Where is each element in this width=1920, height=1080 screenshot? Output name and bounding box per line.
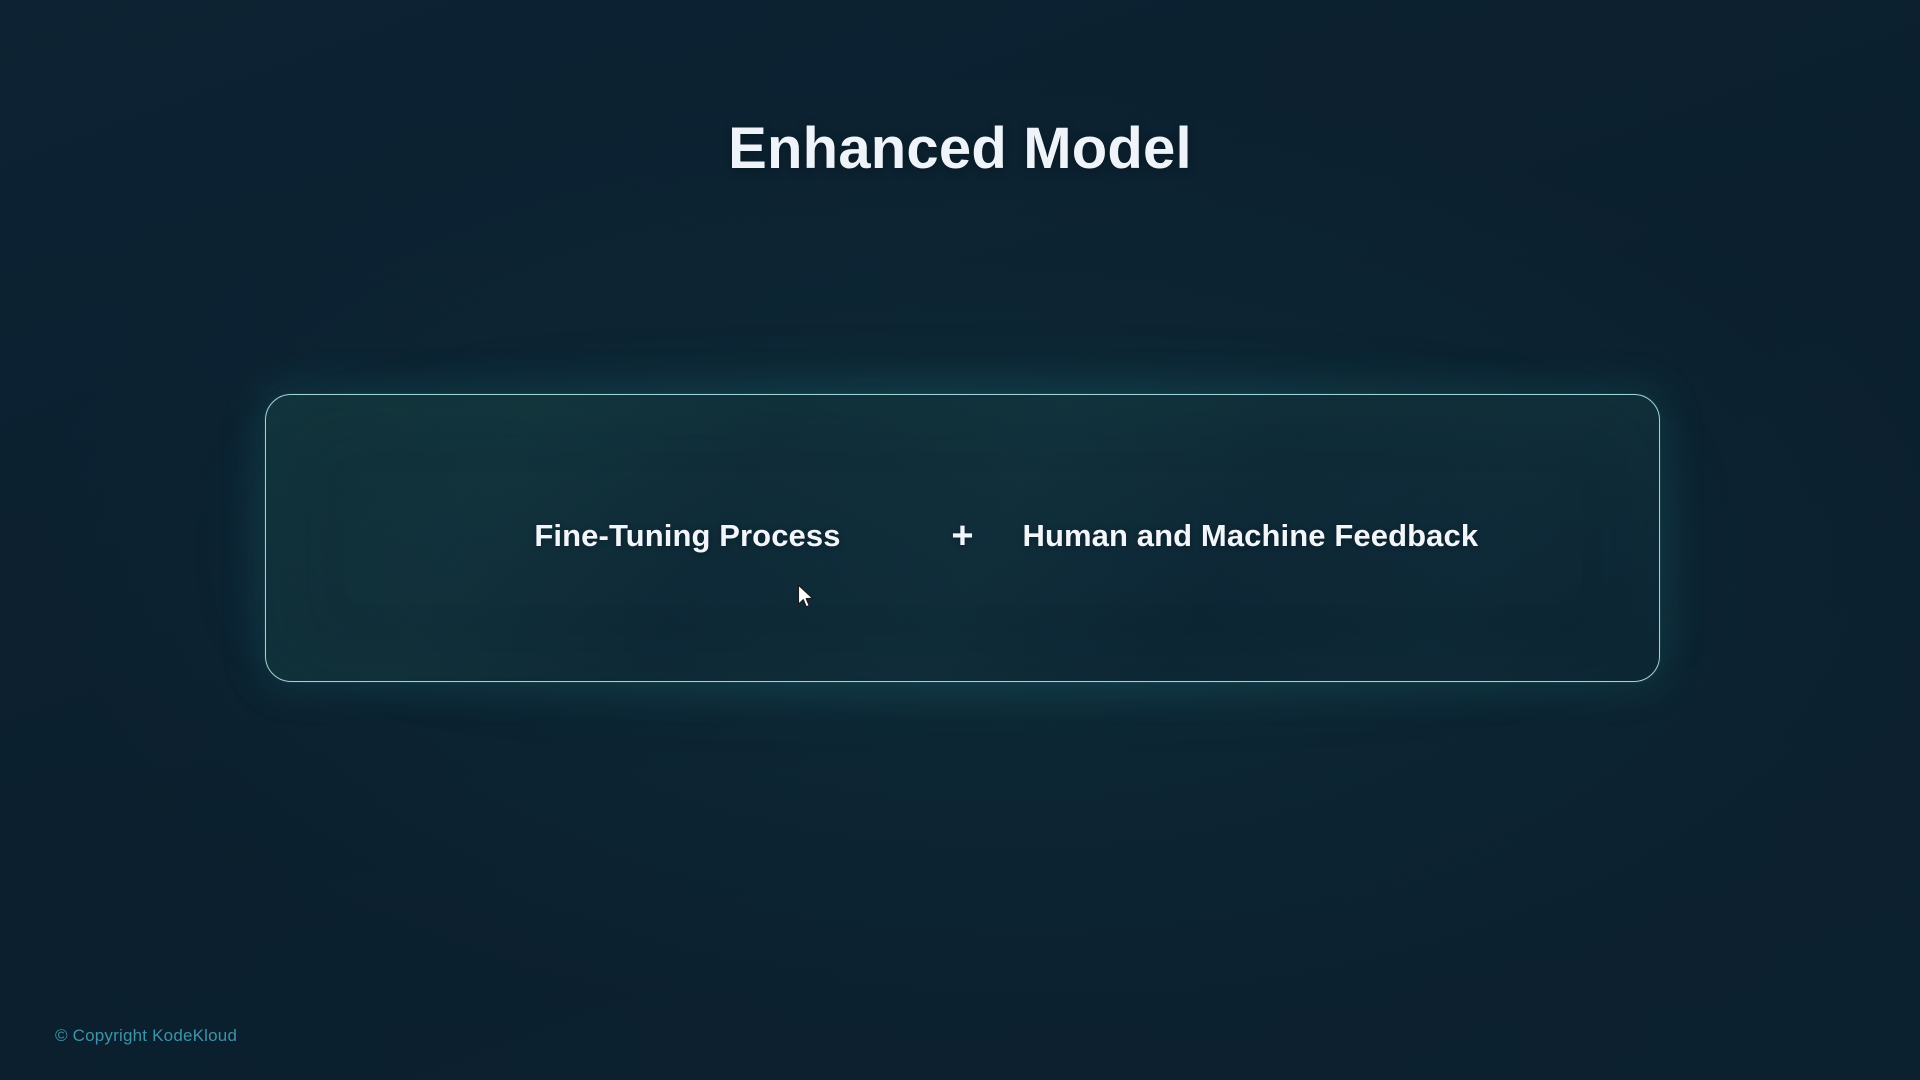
enhanced-model-formula-card: Fine-Tuning Process + Human and Machine …: [265, 394, 1660, 682]
slide-canvas: Enhanced Model Fine-Tuning Process + Hum…: [0, 0, 1920, 1080]
copyright-label: © Copyright KodeKloud: [55, 1026, 237, 1046]
formula-right-term: Human and Machine Feedback: [1023, 518, 1453, 554]
plus-icon: +: [903, 517, 1023, 555]
formula-left-term: Fine-Tuning Process: [473, 518, 903, 554]
page-title: Enhanced Model: [0, 117, 1920, 181]
formula-row: Fine-Tuning Process + Human and Machine …: [266, 517, 1659, 559]
